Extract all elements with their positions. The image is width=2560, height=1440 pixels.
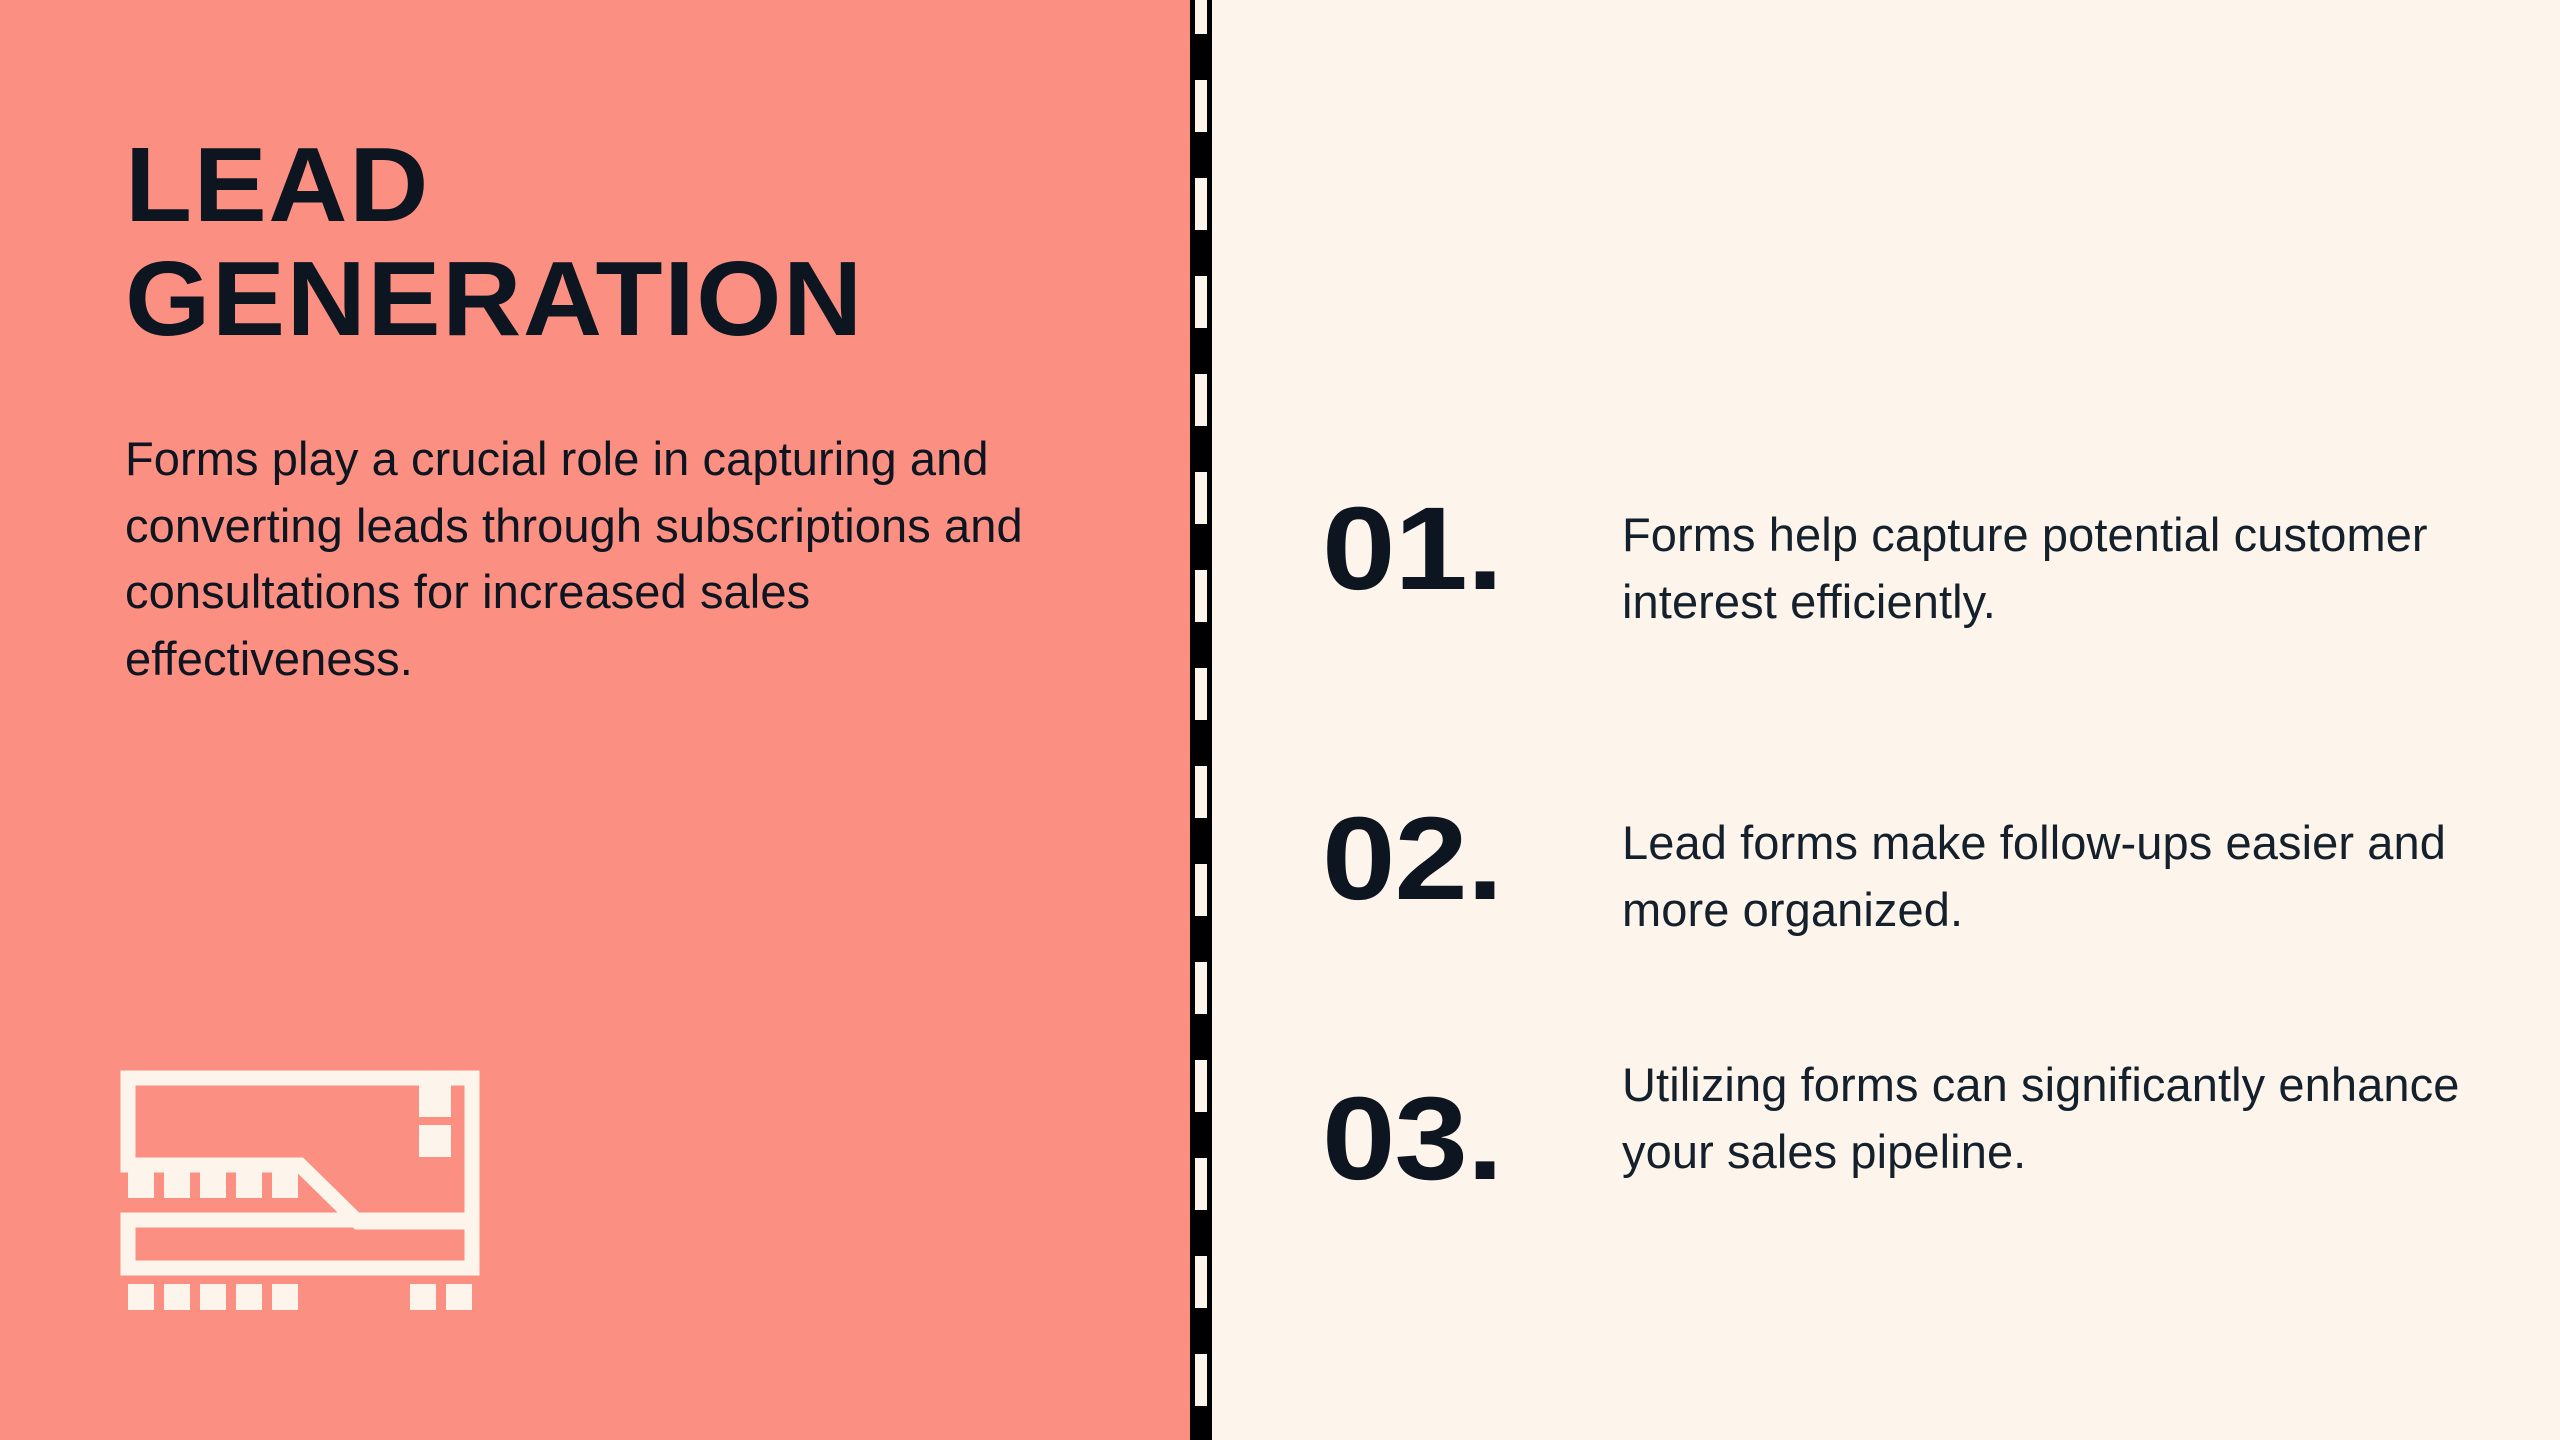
- form-dot-square: [128, 1284, 154, 1310]
- right-panel: 01. Forms help capture potential custome…: [1212, 0, 2560, 1440]
- list-item-number: 01.: [1322, 490, 1658, 608]
- left-panel: LEAD GENERATION Forms play a crucial rol…: [0, 0, 1190, 1440]
- list-item-text: Lead forms make follow-ups easier and mo…: [1622, 800, 2502, 943]
- list-item-text: Forms help capture potential customer in…: [1622, 490, 2502, 635]
- form-document-icon-graphic: [120, 1062, 480, 1322]
- numbered-item-list: 01. Forms help capture potential custome…: [1212, 0, 2560, 1440]
- page-title: LEAD GENERATION: [125, 128, 1160, 357]
- list-item-number: 03.: [1322, 1080, 1658, 1198]
- list-item: 02. Lead forms make follow-ups easier an…: [1322, 800, 2502, 943]
- form-dot-square: [164, 1172, 190, 1198]
- form-dot-square: [272, 1172, 298, 1198]
- dashed-vertical-divider: [1190, 0, 1212, 1440]
- form-marker-square-a: [419, 1085, 451, 1117]
- form-dot-square: [272, 1284, 298, 1310]
- form-dot-square: [236, 1284, 262, 1310]
- form-dot-square: [128, 1172, 154, 1198]
- form-dot-square: [200, 1172, 226, 1198]
- form-dot-square: [200, 1284, 226, 1310]
- list-item-number: 02.: [1322, 800, 1658, 918]
- slide-canvas: LEAD GENERATION Forms play a crucial rol…: [0, 0, 2560, 1440]
- form-document-icon: [120, 1062, 480, 1322]
- form-dot-square: [236, 1172, 262, 1198]
- form-dot-square: [446, 1284, 472, 1310]
- divider-dash-track: [1195, 0, 1207, 1440]
- form-dot-square: [164, 1284, 190, 1310]
- form-bar-outline: [128, 1220, 472, 1268]
- page-subtitle: Forms play a crucial role in capturing a…: [125, 426, 1045, 693]
- list-item-text: Utilizing forms can significantly enhanc…: [1622, 1042, 2502, 1185]
- form-dot-square: [410, 1284, 436, 1310]
- form-marker-square-b: [419, 1125, 451, 1157]
- list-item: 03. Utilizing forms can significantly en…: [1322, 1080, 2502, 1198]
- list-item: 01. Forms help capture potential custome…: [1322, 490, 2502, 635]
